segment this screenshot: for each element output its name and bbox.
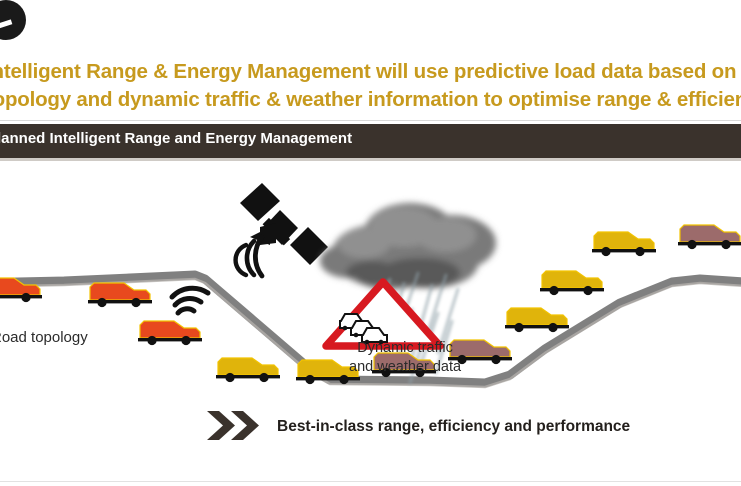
satellite-icon bbox=[236, 183, 328, 276]
vehicle-11 bbox=[678, 225, 741, 249]
label-road-topology: Road topology bbox=[0, 328, 88, 347]
footer-divider bbox=[0, 481, 741, 482]
label-dynamic-traffic-line-1: Dynamic traffic bbox=[349, 339, 461, 358]
chevron-double-right-icon bbox=[205, 409, 265, 442]
diagram-svg bbox=[0, 161, 741, 449]
header-divider bbox=[0, 120, 741, 121]
page-title-line-1: Intelligent Range & Energy Management wi… bbox=[0, 60, 741, 83]
page-title: Intelligent Range & Energy Management wi… bbox=[0, 58, 741, 114]
wifi-signal-icon bbox=[172, 288, 208, 313]
vehicle-4 bbox=[216, 358, 280, 382]
label-dynamic-traffic: Dynamic traffic and weather data bbox=[349, 339, 461, 377]
vehicle-2 bbox=[88, 283, 152, 307]
diagram-stage: Dynamic traffic and weather data bbox=[0, 161, 741, 449]
page-title-line-2: topology and dynamic traffic & weather i… bbox=[0, 86, 741, 114]
section-banner-title: Planned Intelligent Range and Energy Man… bbox=[0, 130, 352, 147]
storm-cloud-icon bbox=[320, 203, 496, 290]
logo-circle-icon bbox=[0, 0, 26, 40]
vehicle-8 bbox=[505, 308, 569, 332]
vehicle-3 bbox=[138, 321, 202, 345]
slide-canvas: Intelligent Range & Energy Management wi… bbox=[0, 0, 741, 486]
brand-logo bbox=[0, 0, 32, 44]
tagline-text: Best-in-class range, efficiency and perf… bbox=[277, 418, 630, 436]
vehicle-10 bbox=[592, 232, 656, 256]
label-dynamic-traffic-line-2: and weather data bbox=[349, 358, 461, 377]
vehicle-9 bbox=[540, 271, 604, 295]
